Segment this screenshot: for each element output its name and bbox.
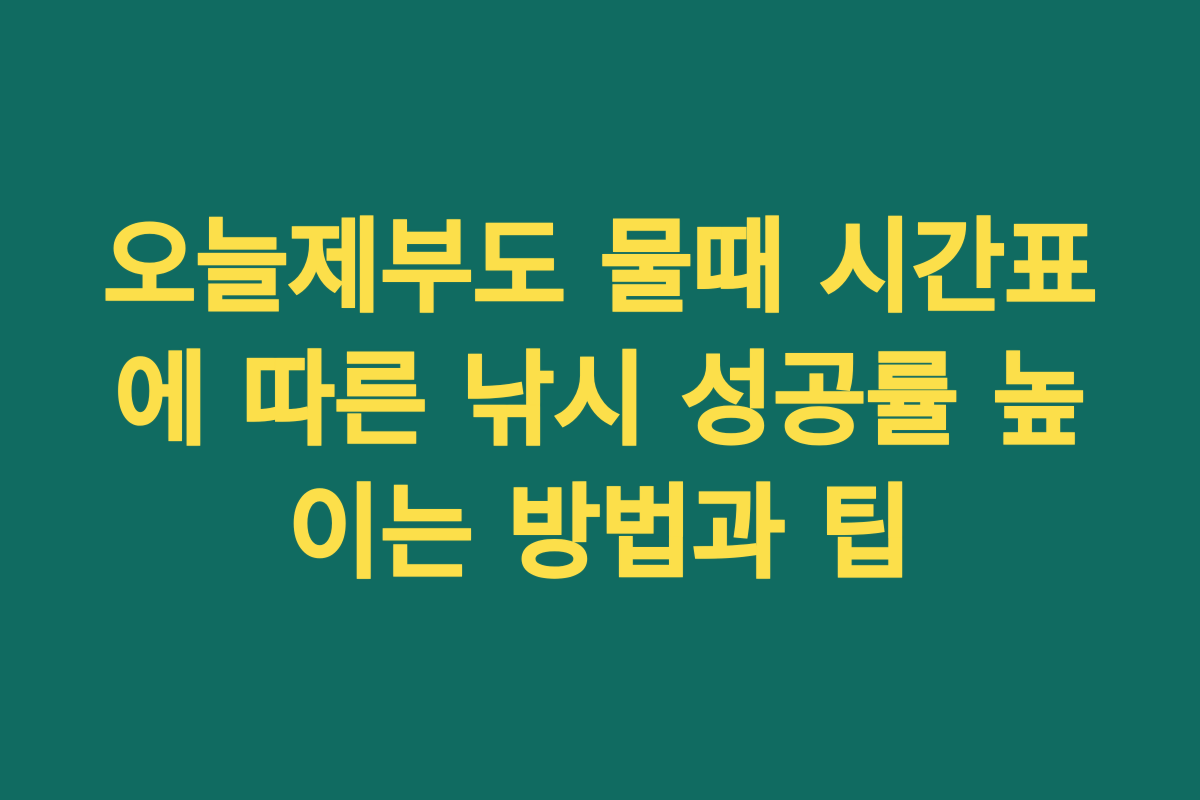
title-line-2: 에 따른 낚시 성공률 높	[70, 334, 1130, 467]
title-line-3: 이는 방법과 팁	[70, 467, 1130, 600]
thumbnail-card: 오늘제부도 물때 시간표 에 따른 낚시 성공률 높 이는 방법과 팁	[0, 0, 1200, 800]
title-line-1: 오늘제부도 물때 시간표	[70, 201, 1130, 334]
page-title: 오늘제부도 물때 시간표 에 따른 낚시 성공률 높 이는 방법과 팁	[70, 201, 1130, 600]
